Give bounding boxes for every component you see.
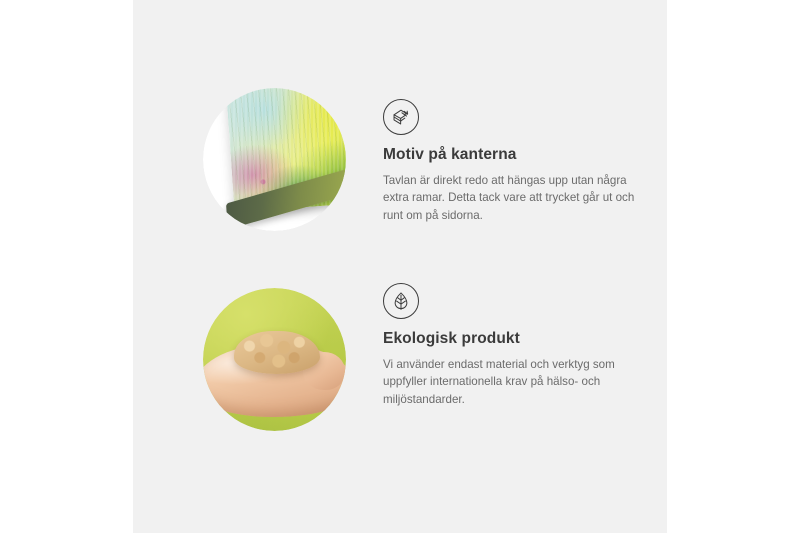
feature-body: Vi använder endast material och verktyg … (383, 356, 651, 409)
hands-holding-wood-chips-photo (203, 288, 346, 431)
feature-block-eco: Ekologisk produkt Vi använder endast mat… (133, 253, 667, 433)
canvas-print-corner-photo (203, 88, 346, 231)
content-panel: Motiv på kanterna Tavlan är direkt redo … (133, 0, 667, 533)
feature-image-eco (203, 288, 346, 431)
feature-body: Tavlan är direkt redo att hängas upp uta… (383, 172, 651, 225)
wood-chips-shape (234, 331, 320, 374)
feature-image-edges (203, 88, 346, 231)
feature-text-eco: Ekologisk produkt Vi använder endast mat… (383, 283, 663, 408)
canvas-print-block (226, 88, 346, 212)
leaf-icon (383, 283, 419, 319)
product-feature-banner: Motiv på kanterna Tavlan är direkt redo … (0, 0, 800, 533)
feature-title: Motiv på kanterna (383, 146, 663, 165)
canvas-wrapped-edges-icon (383, 99, 419, 135)
feature-text-edges: Motiv på kanterna Tavlan är direkt redo … (383, 99, 663, 224)
feature-title: Ekologisk produkt (383, 330, 663, 349)
feature-block-edges: Motiv på kanterna Tavlan är direkt redo … (133, 75, 667, 255)
